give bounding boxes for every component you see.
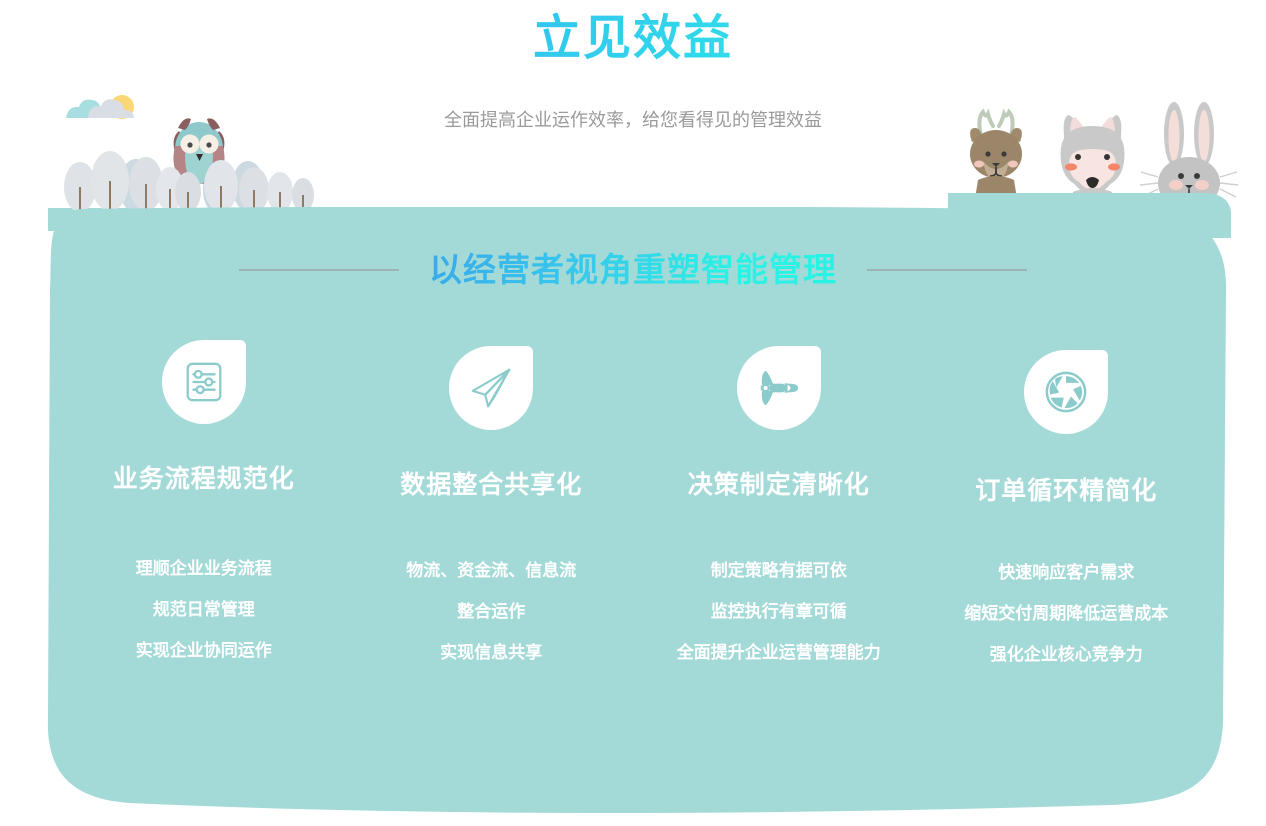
feature-line: 制定策略有据可依	[677, 550, 881, 591]
feature-list: 业务流程规范化 理顺企业业务流程 规范日常管理 实现企业协同运作 数据整合共享化…	[60, 340, 1210, 675]
camera-aperture-icon	[1024, 350, 1108, 434]
feature-line: 全面提升企业运营管理能力	[677, 632, 881, 673]
section-heading: 以经营者视角重塑智能管理	[0, 247, 1266, 293]
feature-item[interactable]: 决策制定清晰化 制定策略有据可依 监控执行有章可循 全面提升企业运营管理能力	[635, 340, 923, 673]
feature-line: 监控执行有章可循	[677, 591, 881, 632]
feature-line: 理顺企业业务流程	[136, 548, 272, 589]
page-title: 立见效益	[0, 8, 1266, 70]
feature-line: 强化企业核心竞争力	[964, 634, 1168, 675]
feature-line: 缩短交付周期降低运营成本	[964, 593, 1168, 634]
sliders-settings-icon	[162, 340, 246, 424]
section-title: 以经营者视角重塑智能管理	[429, 247, 837, 293]
feature-title: 决策制定清晰化	[688, 468, 870, 502]
feature-lines: 理顺企业业务流程 规范日常管理 实现企业协同运作	[136, 548, 272, 671]
feature-item[interactable]: 订单循环精简化 快速响应客户需求 缩短交付周期降低运营成本 强化企业核心竞争力	[923, 340, 1211, 675]
feature-title: 数据整合共享化	[400, 468, 582, 502]
feature-item[interactable]: 业务流程规范化 理顺企业业务流程 规范日常管理 实现企业协同运作	[60, 340, 348, 671]
feature-line: 规范日常管理	[136, 589, 272, 630]
feature-line: 整合运作	[406, 591, 576, 632]
space-shuttle-icon	[737, 346, 821, 430]
feature-line: 实现企业协同运作	[136, 630, 272, 671]
landing-page: 立见效益 全面提高企业运作效率，给您看得见的管理效益	[0, 0, 1266, 826]
feature-lines: 制定策略有据可依 监控执行有章可循 全面提升企业运营管理能力	[677, 550, 881, 673]
feature-lines: 快速响应客户需求 缩短交付周期降低运营成本 强化企业核心竞争力	[964, 552, 1168, 675]
paper-plane-icon	[449, 346, 533, 430]
feature-line: 实现信息共享	[406, 632, 576, 673]
divider-left	[239, 269, 399, 271]
feature-lines: 物流、资金流、信息流 整合运作 实现信息共享	[406, 550, 576, 673]
divider-right	[867, 269, 1027, 271]
feature-line: 物流、资金流、信息流	[406, 550, 576, 591]
feature-title: 业务流程规范化	[113, 462, 295, 496]
feature-line: 快速响应客户需求	[964, 552, 1168, 593]
feature-item[interactable]: 数据整合共享化 物流、资金流、信息流 整合运作 实现信息共享	[348, 340, 636, 673]
feature-title: 订单循环精简化	[975, 474, 1157, 508]
